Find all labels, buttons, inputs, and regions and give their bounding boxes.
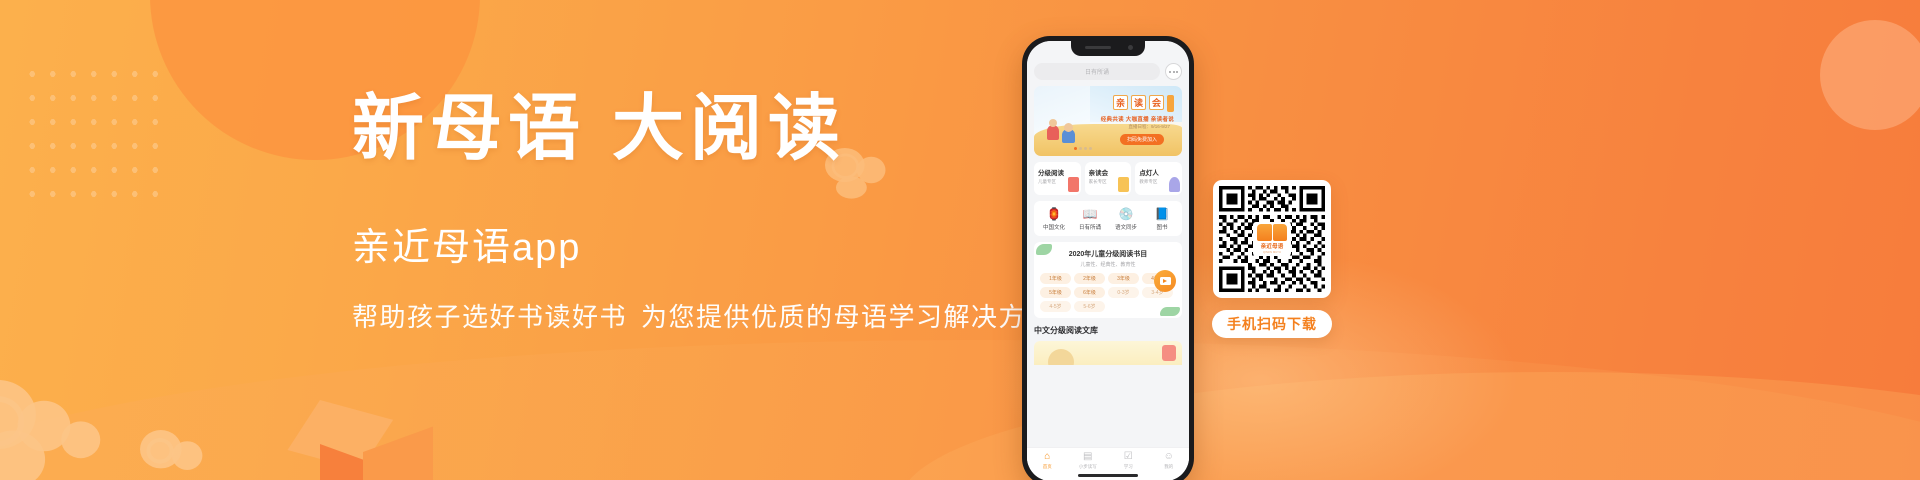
grade-chip[interactable]: 1年级 bbox=[1040, 273, 1071, 284]
nav-card-title: 分级阅读 bbox=[1038, 167, 1077, 177]
tab-label: 首页 bbox=[1043, 464, 1052, 470]
booklist-title: 2020年儿童分级阅读书目 bbox=[1040, 249, 1176, 259]
home-icon: ⌂ bbox=[1044, 452, 1050, 462]
phone-notch bbox=[1071, 41, 1145, 56]
brand-name: 亲近母语 bbox=[1261, 242, 1284, 250]
hero-date: 直播日程：9/16-9/27 bbox=[1128, 124, 1170, 130]
book-red-icon bbox=[1068, 177, 1079, 192]
app-screen: 日有所诵 亲 读 会 经典共读 大咖直播 亲读者说 直播日程：9/16-9/27… bbox=[1027, 41, 1189, 480]
person-purple-icon bbox=[1169, 177, 1180, 192]
download-button[interactable]: 手机扫码下载 bbox=[1212, 310, 1332, 338]
tab-label: 学习 bbox=[1124, 464, 1133, 470]
qr-code-image: 亲近母语 QINJIN MUYU bbox=[1219, 186, 1325, 292]
age-chip[interactable]: 0-3岁 bbox=[1108, 287, 1139, 298]
decor-dot-grid bbox=[20, 60, 160, 210]
tab-study[interactable]: ☑ 学习 bbox=[1110, 452, 1146, 470]
nav-card-title: 亲读会 bbox=[1089, 167, 1128, 177]
hero-char-3: 会 bbox=[1149, 95, 1164, 110]
qr-center-logo: 亲近母语 QINJIN MUYU bbox=[1253, 222, 1291, 256]
age-chip[interactable]: 4-5岁 bbox=[1040, 301, 1071, 312]
age-chip[interactable]: 5-6岁 bbox=[1074, 301, 1105, 312]
books-icon: 📘 bbox=[1155, 208, 1170, 220]
tagline-part-1: 帮助孩子选好书读好书 bbox=[352, 302, 627, 332]
decor-hill-curve bbox=[0, 340, 1920, 480]
quick-icon-syllabus-sync[interactable]: 💿 语文同步 bbox=[1109, 208, 1143, 231]
tab-profile[interactable]: ☺ 我的 bbox=[1151, 452, 1187, 470]
page-title: 新母语大阅读 bbox=[352, 92, 1054, 168]
quick-icon-chinese-culture[interactable]: 🏮 中国文化 bbox=[1037, 208, 1071, 231]
quick-icon-label: 图书 bbox=[1156, 223, 1167, 231]
brand-name-en: QINJIN MUYU bbox=[1263, 251, 1281, 254]
hero-char-2: 读 bbox=[1131, 95, 1146, 110]
tagline-part-2: 为您提供优质的母语学习解决方案 bbox=[641, 302, 1054, 332]
hero-ribbon-icon bbox=[1167, 95, 1174, 112]
carousel-dots[interactable] bbox=[1074, 147, 1092, 150]
phone-mockup: 日有所诵 亲 读 会 经典共读 大咖直播 亲读者说 直播日程：9/16-9/27… bbox=[1022, 36, 1194, 480]
decor-circle-top-right bbox=[1820, 20, 1920, 130]
nav-card-teacher[interactable]: 点灯人 教师专区 bbox=[1135, 162, 1182, 195]
decor-isometric-cube bbox=[320, 400, 440, 480]
library-card[interactable] bbox=[1034, 341, 1182, 365]
more-dots-icon[interactable] bbox=[1165, 63, 1182, 80]
library-section-title: 中文分级阅读文库 bbox=[1034, 325, 1182, 336]
grade-chip[interactable]: 6年级 bbox=[1074, 287, 1105, 298]
headline-left: 新母语 bbox=[352, 89, 586, 169]
lantern-icon: 🏮 bbox=[1047, 208, 1062, 220]
hero-char-1: 亲 bbox=[1113, 95, 1128, 110]
app-name: 亲近母语app bbox=[352, 216, 1054, 271]
tab-label: 小步读写 bbox=[1079, 464, 1097, 470]
quick-icon-daily-recite[interactable]: 📖 日有所诵 bbox=[1073, 208, 1107, 231]
hero-title: 亲 读 会 bbox=[1113, 95, 1174, 112]
home-indicator bbox=[1078, 474, 1138, 477]
hero-subtitle: 经典共读 大咖直播 亲读者说 bbox=[1101, 115, 1174, 123]
booklist-subtitle: 儿童性、经典性、教育性 bbox=[1040, 261, 1176, 268]
quick-icon-label: 日有所诵 bbox=[1079, 223, 1101, 231]
nav-card-graded-reading[interactable]: 分级阅读 儿童专区 bbox=[1034, 162, 1081, 195]
video-play-icon[interactable] bbox=[1154, 270, 1176, 292]
quick-icon-label: 中国文化 bbox=[1043, 223, 1065, 231]
promo-banner: 新母语大阅读 亲近母语app 帮助孩子选好书读好书为您提供优质的母语学习解决方案… bbox=[0, 0, 1920, 480]
clipboard-icon: ☑ bbox=[1124, 452, 1133, 462]
booklist-card: 2020年儿童分级阅读书目 儿童性、经典性、教育性 1年级 2年级 3年级 4年… bbox=[1034, 242, 1182, 318]
book-yellow-icon bbox=[1118, 177, 1129, 192]
book-logo-icon bbox=[1257, 224, 1287, 241]
grade-chip[interactable]: 3年级 bbox=[1108, 273, 1139, 284]
hero-banner[interactable]: 亲 读 会 经典共读 大咖直播 亲读者说 直播日程：9/16-9/27 扫码免费… bbox=[1034, 86, 1182, 156]
grade-chip[interactable]: 2年级 bbox=[1074, 273, 1105, 284]
quick-icon-row: 🏮 中国文化 📖 日有所诵 💿 语文同步 📘 图书 bbox=[1034, 201, 1182, 236]
search-row: 日有所诵 bbox=[1034, 63, 1182, 80]
hero-cta-button[interactable]: 扫码免费加入 bbox=[1120, 134, 1164, 145]
nav-card-row: 分级阅读 儿童专区 亲读会 家长专区 点灯人 教师专区 bbox=[1034, 162, 1182, 195]
open-book-icon: 📖 bbox=[1083, 208, 1098, 220]
grade-chip[interactable]: 5年级 bbox=[1040, 287, 1071, 298]
banner-text-block: 新母语大阅读 亲近母语app 帮助孩子选好书读好书为您提供优质的母语学习解决方案 bbox=[352, 92, 1054, 334]
tab-label: 我的 bbox=[1164, 464, 1173, 470]
banner-tagline: 帮助孩子选好书读好书为您提供优质的母语学习解决方案 bbox=[352, 297, 1054, 334]
search-input[interactable]: 日有所诵 bbox=[1034, 63, 1160, 80]
qr-code-card: 亲近母语 QINJIN MUYU bbox=[1213, 180, 1331, 298]
headline-right: 大阅读 bbox=[612, 89, 846, 169]
record-icon: 💿 bbox=[1119, 208, 1134, 220]
quick-icon-label: 语文同步 bbox=[1115, 223, 1137, 231]
nav-card-title: 点灯人 bbox=[1139, 167, 1178, 177]
tab-reading-writing[interactable]: ▤ 小步读写 bbox=[1070, 452, 1106, 470]
list-icon: ▤ bbox=[1083, 452, 1092, 462]
user-icon: ☺ bbox=[1164, 452, 1174, 462]
tab-home[interactable]: ⌂ 首页 bbox=[1029, 452, 1065, 470]
quick-icon-books[interactable]: 📘 图书 bbox=[1145, 208, 1179, 231]
nav-card-parent-club[interactable]: 亲读会 家长专区 bbox=[1085, 162, 1132, 195]
